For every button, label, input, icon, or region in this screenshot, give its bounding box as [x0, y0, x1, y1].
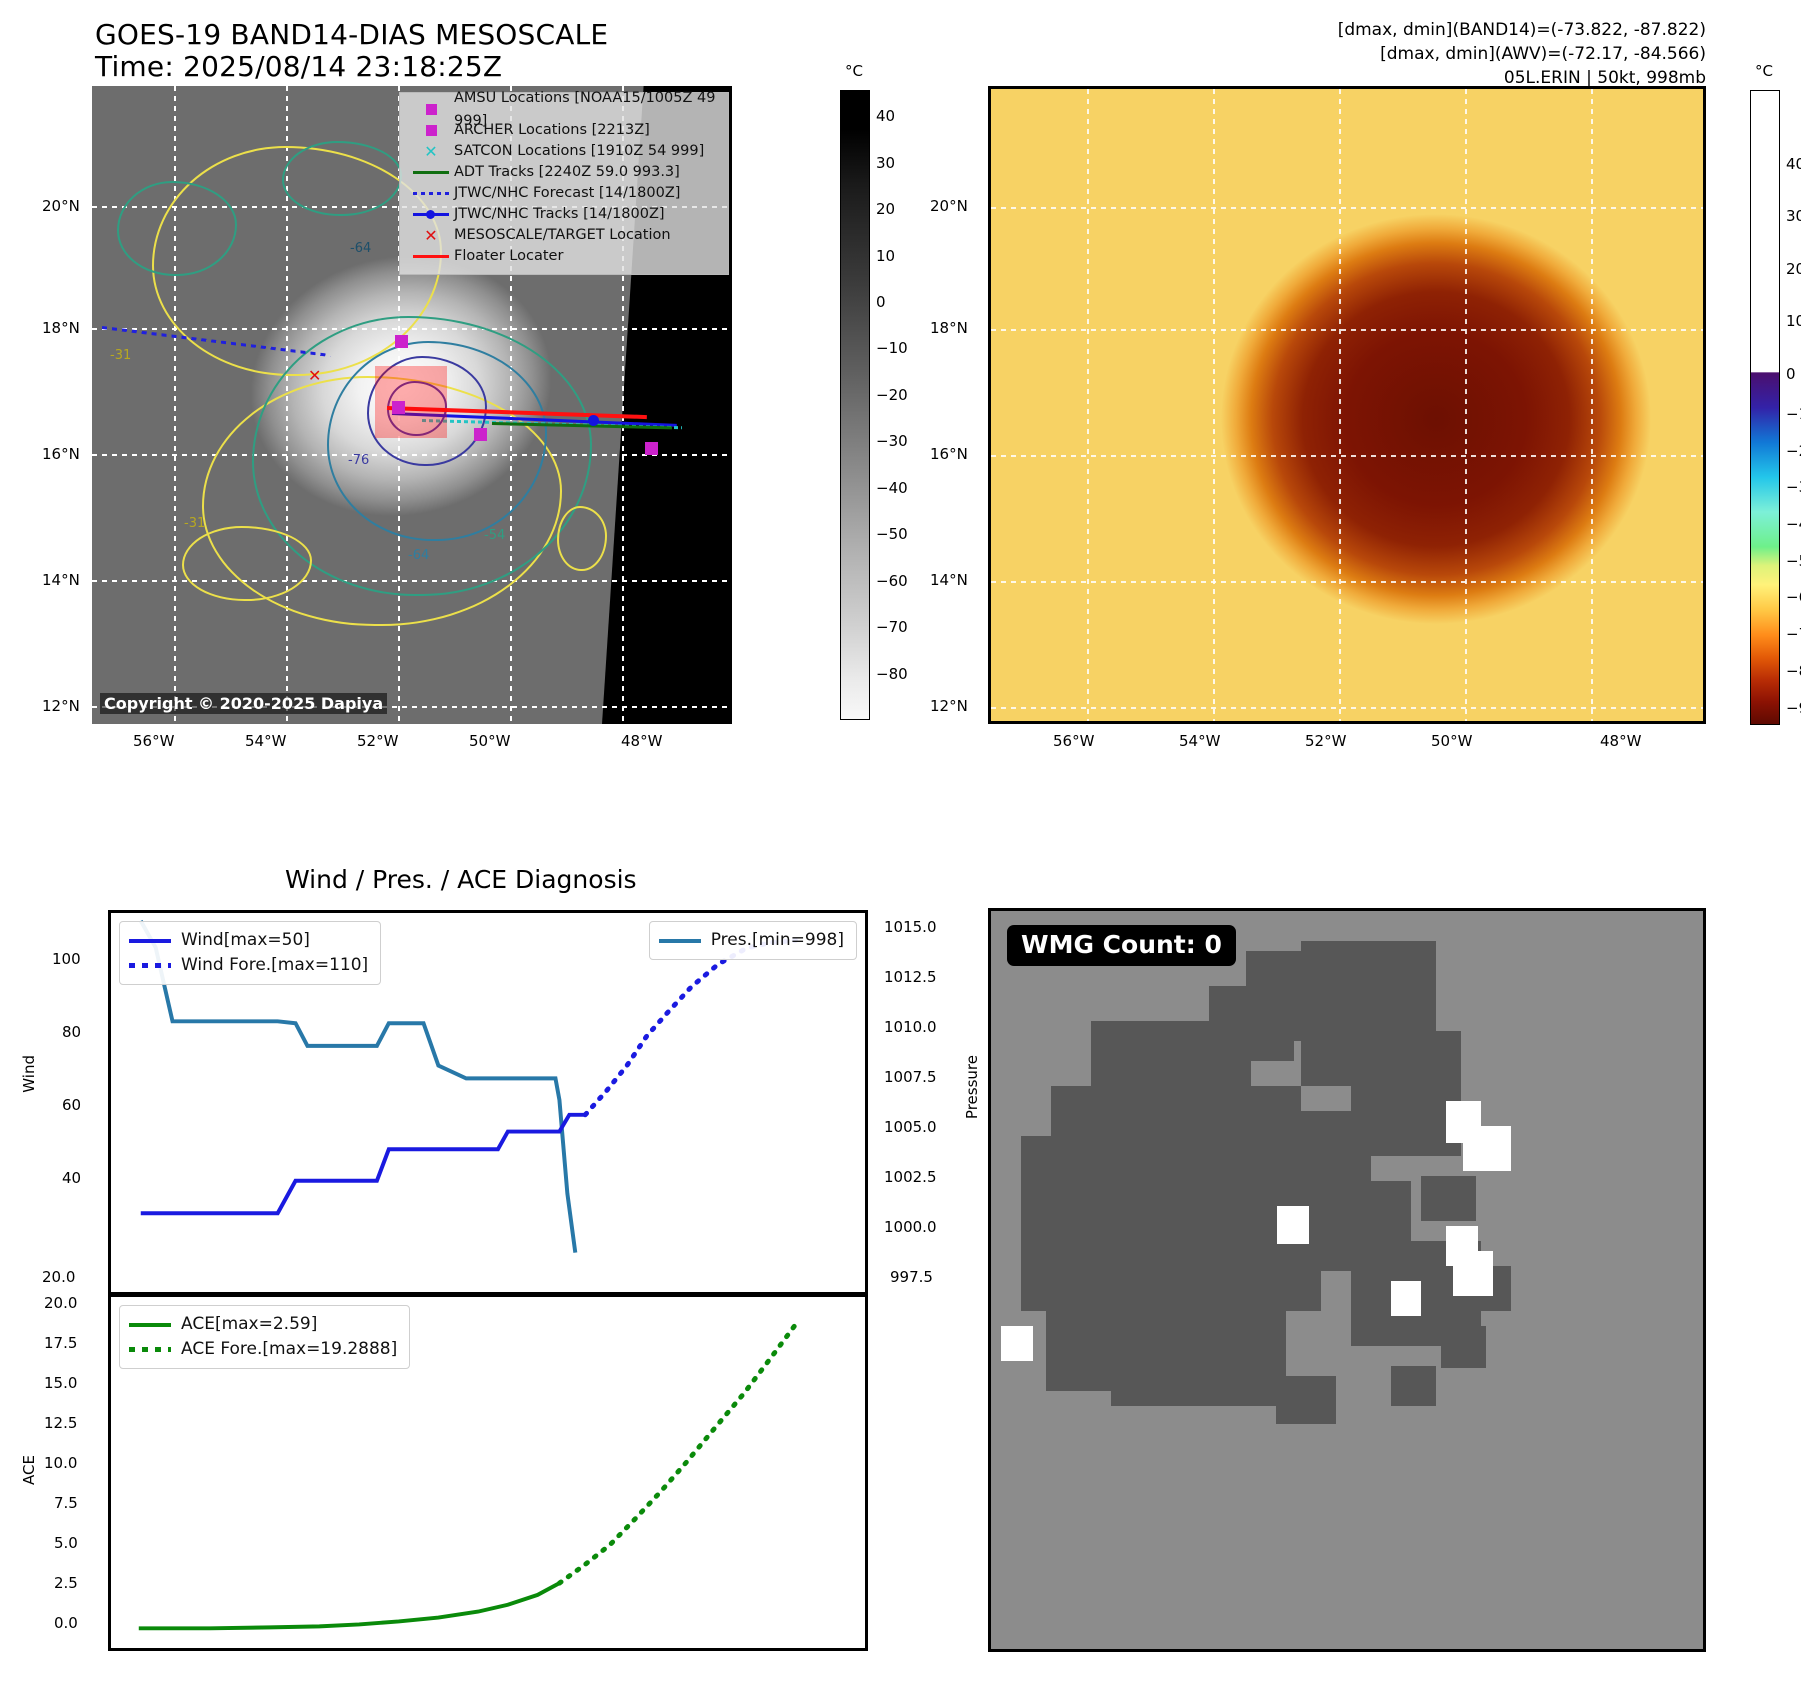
awv-lat-tick-12n: 12°N: [930, 697, 968, 715]
ir-lon-tick-48w: 48°W: [621, 732, 662, 750]
legend-label-adt: ADT Tracks [2240Z 59.0 993.3]: [454, 161, 680, 184]
wind-axis-label: Wind: [20, 1055, 38, 1093]
diagnosis-title: Wind / Pres. / ACE Diagnosis: [285, 865, 637, 894]
pressure-axis-label: Pressure: [963, 1055, 981, 1119]
awv-gridline-lat-16n: [991, 455, 1703, 457]
awv-colorized-map[interactable]: [988, 86, 1706, 724]
dmax-dmin-band14-text: [dmax, dmin](BAND14)=(-73.822, -87.822): [1338, 18, 1706, 43]
ace-legend: ACE[max=2.59] ACE Fore.[max=19.2888]: [119, 1305, 410, 1369]
pres-tick-1015: 1015.0: [884, 918, 937, 936]
wmg-cell: [1156, 1101, 1231, 1151]
wind-tick-100: 100: [52, 950, 81, 968]
wmg-hot-cell: [1391, 1281, 1421, 1316]
pressure-legend-item: Pres.[min=998]: [659, 928, 844, 953]
archer-location-marker-2: [474, 428, 487, 441]
ir-lat-tick-18n: 18°N: [42, 319, 80, 337]
wmg-cell: [1441, 1326, 1486, 1368]
awv-gridline-lon-54w: [1213, 89, 1215, 721]
right-cb-tick-m20: −20: [1786, 442, 1801, 460]
pressure-legend-label: Pres.[min=998]: [711, 928, 844, 954]
right-cb-tick-m60: −60: [1786, 588, 1801, 606]
ace-axis-label: ACE: [20, 1455, 38, 1485]
ace-dotted-line-icon: [129, 1347, 181, 1352]
jtwc-forecast-dotted-icon: [408, 192, 454, 195]
left-cb-tick-m20: −20: [876, 386, 908, 404]
archer-location-marker-1: [392, 401, 405, 414]
pres-tick-1010: 1010.0: [884, 1018, 937, 1036]
awv-lon-tick-52w: 52°W: [1305, 732, 1346, 750]
ir-contour-label-6: -31: [184, 516, 205, 531]
ir-lon-tick-56w: 56°W: [133, 732, 174, 750]
ir-contour-label-5: -31: [110, 348, 131, 363]
awv-gridline-lat-12n: [991, 707, 1703, 709]
legend-item-satcon: ✕ SATCON Locations [1910Z 54 999]: [408, 141, 720, 162]
ir-lat-tick-16n: 16°N: [42, 445, 80, 463]
wind-legend-label-observed: Wind[max=50]: [181, 928, 310, 954]
left-cb-tick-m50: −50: [876, 525, 908, 543]
awv-lat-tick-18n: 18°N: [930, 319, 968, 337]
awv-gridline-lon-50w: [1465, 89, 1467, 721]
mesoscale-x-icon: ✕: [408, 228, 454, 244]
wmg-cell: [1111, 1241, 1286, 1406]
awv-lat-tick-16n: 16°N: [930, 445, 968, 463]
wind-tick-80: 80: [62, 1023, 81, 1041]
wmg-map[interactable]: WMG Count: 0: [988, 908, 1706, 1652]
amsu-location-marker-2: [645, 442, 658, 455]
wind-legend: Wind[max=50] Wind Fore.[max=110]: [119, 921, 381, 985]
right-cb-tick-30: 30: [1786, 207, 1801, 225]
left-cb-tick-40: 40: [876, 107, 895, 125]
pres-tick-9975: 997.5: [890, 1268, 933, 1286]
page-title-line1: GOES-19 BAND14-DIAS MESOSCALE: [95, 18, 608, 51]
pres-tick-1000: 1000.0: [884, 1218, 937, 1236]
wind-dotted-line-icon: [129, 963, 181, 968]
legend-label-floater-locater: Floater Locater: [454, 245, 563, 268]
left-cb-tick-m10: −10: [876, 339, 908, 357]
left-colorbar-unit: °C: [845, 62, 863, 80]
ace-solid-line-icon: [129, 1323, 181, 1327]
legend-label-satcon: SATCON Locations [1910Z 54 999]: [454, 140, 704, 163]
wind-pressure-chart[interactable]: Wind[max=50] Wind Fore.[max=110] Pres.[m…: [108, 910, 868, 1295]
ir-lon-tick-50w: 50°W: [469, 732, 510, 750]
amsu-location-marker-1: [395, 335, 408, 348]
ace-tick-125: 12.5: [44, 1414, 77, 1432]
mesoscale-target-x-icon: ✕: [308, 368, 321, 384]
legend-label-jtwc-forecast: JTWC/NHC Forecast [14/1800Z]: [454, 182, 680, 205]
awv-lon-tick-54w: 54°W: [1179, 732, 1220, 750]
awv-lon-tick-50w: 50°W: [1431, 732, 1472, 750]
ir-lat-tick-14n: 14°N: [42, 571, 80, 589]
legend-label-jtwc-tracks: JTWC/NHC Tracks [14/1800Z]: [454, 203, 665, 226]
ace-tick-75: 7.5: [54, 1494, 78, 1512]
wind-tick-40: 40: [62, 1169, 81, 1187]
wind-forecast-series-line: [585, 941, 795, 1115]
right-cb-tick-40: 40: [1786, 155, 1801, 173]
right-colorbar: 40 30 20 10 0 −10 −20 −30 −40 −50 −60 −7…: [1750, 90, 1780, 725]
amsu-square-icon: [408, 104, 454, 115]
ace-tick-100: 10.0: [44, 1454, 77, 1472]
right-cb-tick-m40: −40: [1786, 515, 1801, 533]
left-cb-tick-m80: −80: [876, 665, 908, 683]
adt-line-icon: [408, 171, 454, 174]
right-cb-tick-10: 10: [1786, 312, 1801, 330]
wmg-count-badge: WMG Count: 0: [1007, 925, 1236, 966]
left-cb-tick-m70: −70: [876, 618, 908, 636]
awv-lon-tick-56w: 56°W: [1053, 732, 1094, 750]
awv-lat-tick-14n: 14°N: [930, 571, 968, 589]
left-cb-tick-m30: −30: [876, 432, 908, 450]
right-cb-tick-m70: −70: [1786, 625, 1801, 643]
awv-gridline-lat-14n: [991, 581, 1703, 583]
ace-legend-item-observed: ACE[max=2.59]: [129, 1312, 397, 1337]
right-cb-tick-m90: −90: [1786, 699, 1801, 717]
legend-label-archer: ARCHER Locations [2213Z]: [454, 119, 650, 142]
awv-gridline-lat-18n: [991, 329, 1703, 331]
ir-lon-tick-52w: 52°W: [357, 732, 398, 750]
jtwc-track-point: [588, 415, 599, 426]
wind-tick-60: 60: [62, 1096, 81, 1114]
left-cb-tick-30: 30: [876, 154, 895, 172]
wind-tick-20: 20.0: [42, 1268, 75, 1286]
dmax-dmin-awv-text: [dmax, dmin](AWV)=(-72.17, -84.566): [1380, 42, 1706, 67]
awv-gridline-lat-20n: [991, 207, 1703, 209]
copyright-text: Copyright © 2020-2025 Dapiya: [100, 693, 387, 714]
dashboard-root: GOES-19 BAND14-DIAS MESOSCALE Time: 2025…: [0, 0, 1801, 1690]
legend-item-adt: ADT Tracks [2240Z 59.0 993.3]: [408, 162, 720, 183]
satcon-x-icon: ✕: [408, 144, 454, 160]
left-cb-tick-0: 0: [876, 293, 886, 311]
ir-map-legend: AMSU Locations [NOAA15/1005Z 49 999] ARC…: [399, 92, 729, 275]
ace-tick-50: 5.0: [54, 1534, 78, 1552]
ace-legend-label-forecast: ACE Fore.[max=19.2888]: [181, 1337, 397, 1363]
ace-forecast-series-line: [559, 1325, 795, 1584]
wmg-cell: [1421, 1176, 1476, 1221]
ace-tick-200: 20.0: [44, 1294, 77, 1312]
legend-item-floater-locater: Floater Locater: [408, 246, 720, 267]
pres-tick-1005: 1005.0: [884, 1118, 937, 1136]
wind-legend-item-forecast: Wind Fore.[max=110]: [129, 953, 368, 978]
wind-solid-line-icon: [129, 939, 181, 943]
legend-item-jtwc-forecast: JTWC/NHC Forecast [14/1800Z]: [408, 183, 720, 204]
ir-mesoscale-map[interactable]: -64 -76 -64 -54 -31 -31 ✕ AMSU Locations…: [92, 86, 732, 724]
archer-square-icon: [408, 125, 454, 136]
awv-lat-tick-20n: 20°N: [930, 197, 968, 215]
ir-contour-label-1: -64: [350, 241, 371, 256]
wmg-hot-cell: [1463, 1126, 1511, 1171]
ir-contour-label-3: -64: [408, 548, 429, 563]
legend-item-amsu: AMSU Locations [NOAA15/1005Z 49 999]: [408, 99, 720, 120]
wind-legend-label-forecast: Wind Fore.[max=110]: [181, 953, 368, 979]
right-cb-tick-0: 0: [1786, 365, 1796, 383]
left-cb-tick-m60: −60: [876, 572, 908, 590]
right-cb-tick-m10: −10: [1786, 405, 1801, 423]
right-colorbar-unit: °C: [1755, 62, 1773, 80]
wmg-cell: [1391, 1366, 1436, 1406]
right-cb-tick-m80: −80: [1786, 662, 1801, 680]
wmg-hot-cell: [1453, 1251, 1493, 1296]
left-cb-tick-10: 10: [876, 247, 895, 265]
awv-lon-tick-48w: 48°W: [1600, 732, 1641, 750]
wmg-hot-cell: [1001, 1326, 1033, 1361]
legend-label-mesoscale-target: MESOSCALE/TARGET Location: [454, 224, 671, 247]
legend-item-jtwc-tracks: JTWC/NHC Tracks [14/1800Z]: [408, 204, 720, 225]
ir-lat-tick-20n: 20°N: [42, 197, 80, 215]
wind-legend-item-observed: Wind[max=50]: [129, 928, 368, 953]
ace-legend-item-forecast: ACE Fore.[max=19.2888]: [129, 1337, 397, 1362]
floater-line-icon: [408, 255, 454, 258]
mesoscale-target-box: [375, 366, 447, 438]
ace-tick-175: 17.5: [44, 1334, 77, 1352]
awv-gridline-lon-52w: [1339, 89, 1341, 721]
pressure-solid-line-icon: [659, 939, 711, 943]
ir-lon-tick-54w: 54°W: [245, 732, 286, 750]
ace-chart[interactable]: ACE[max=2.59] ACE Fore.[max=19.2888]: [108, 1294, 868, 1651]
awv-gridline-lon-56w: [1087, 89, 1089, 721]
pres-tick-10125: 1012.5: [884, 968, 937, 986]
ir-lat-tick-12n: 12°N: [42, 697, 80, 715]
wind-series-line: [141, 1115, 585, 1213]
page-title-line2: Time: 2025/08/14 23:18:25Z: [95, 50, 502, 83]
pressure-legend: Pres.[min=998]: [649, 921, 857, 960]
ace-tick-150: 15.0: [44, 1374, 77, 1392]
legend-item-mesoscale-target: ✕ MESOSCALE/TARGET Location: [408, 225, 720, 246]
ace-legend-label-observed: ACE[max=2.59]: [181, 1312, 317, 1338]
right-cb-tick-m50: −50: [1786, 552, 1801, 570]
ace-tick-25: 2.5: [54, 1574, 78, 1592]
wmg-cell: [1276, 1376, 1336, 1424]
wmg-hot-cell: [1277, 1206, 1309, 1244]
pres-tick-10025: 1002.5: [884, 1168, 937, 1186]
left-colorbar: 40 30 20 10 0 −10 −20 −30 −40 −50 −60 −7…: [840, 90, 870, 720]
right-cb-tick-20: 20: [1786, 260, 1801, 278]
pres-tick-10075: 1007.5: [884, 1068, 937, 1086]
ir-contour-label-2: -76: [348, 453, 369, 468]
left-cb-tick-m40: −40: [876, 479, 908, 497]
ir-contour-label-4: -54: [484, 528, 505, 543]
right-cb-tick-m30: −30: [1786, 478, 1801, 496]
jtwc-tracks-line-icon: [408, 213, 454, 216]
ace-tick-00: 0.0: [54, 1614, 78, 1632]
ace-series-line: [139, 1583, 560, 1628]
awv-gridline-lon-48w: [1591, 89, 1593, 721]
left-cb-tick-20: 20: [876, 200, 895, 218]
